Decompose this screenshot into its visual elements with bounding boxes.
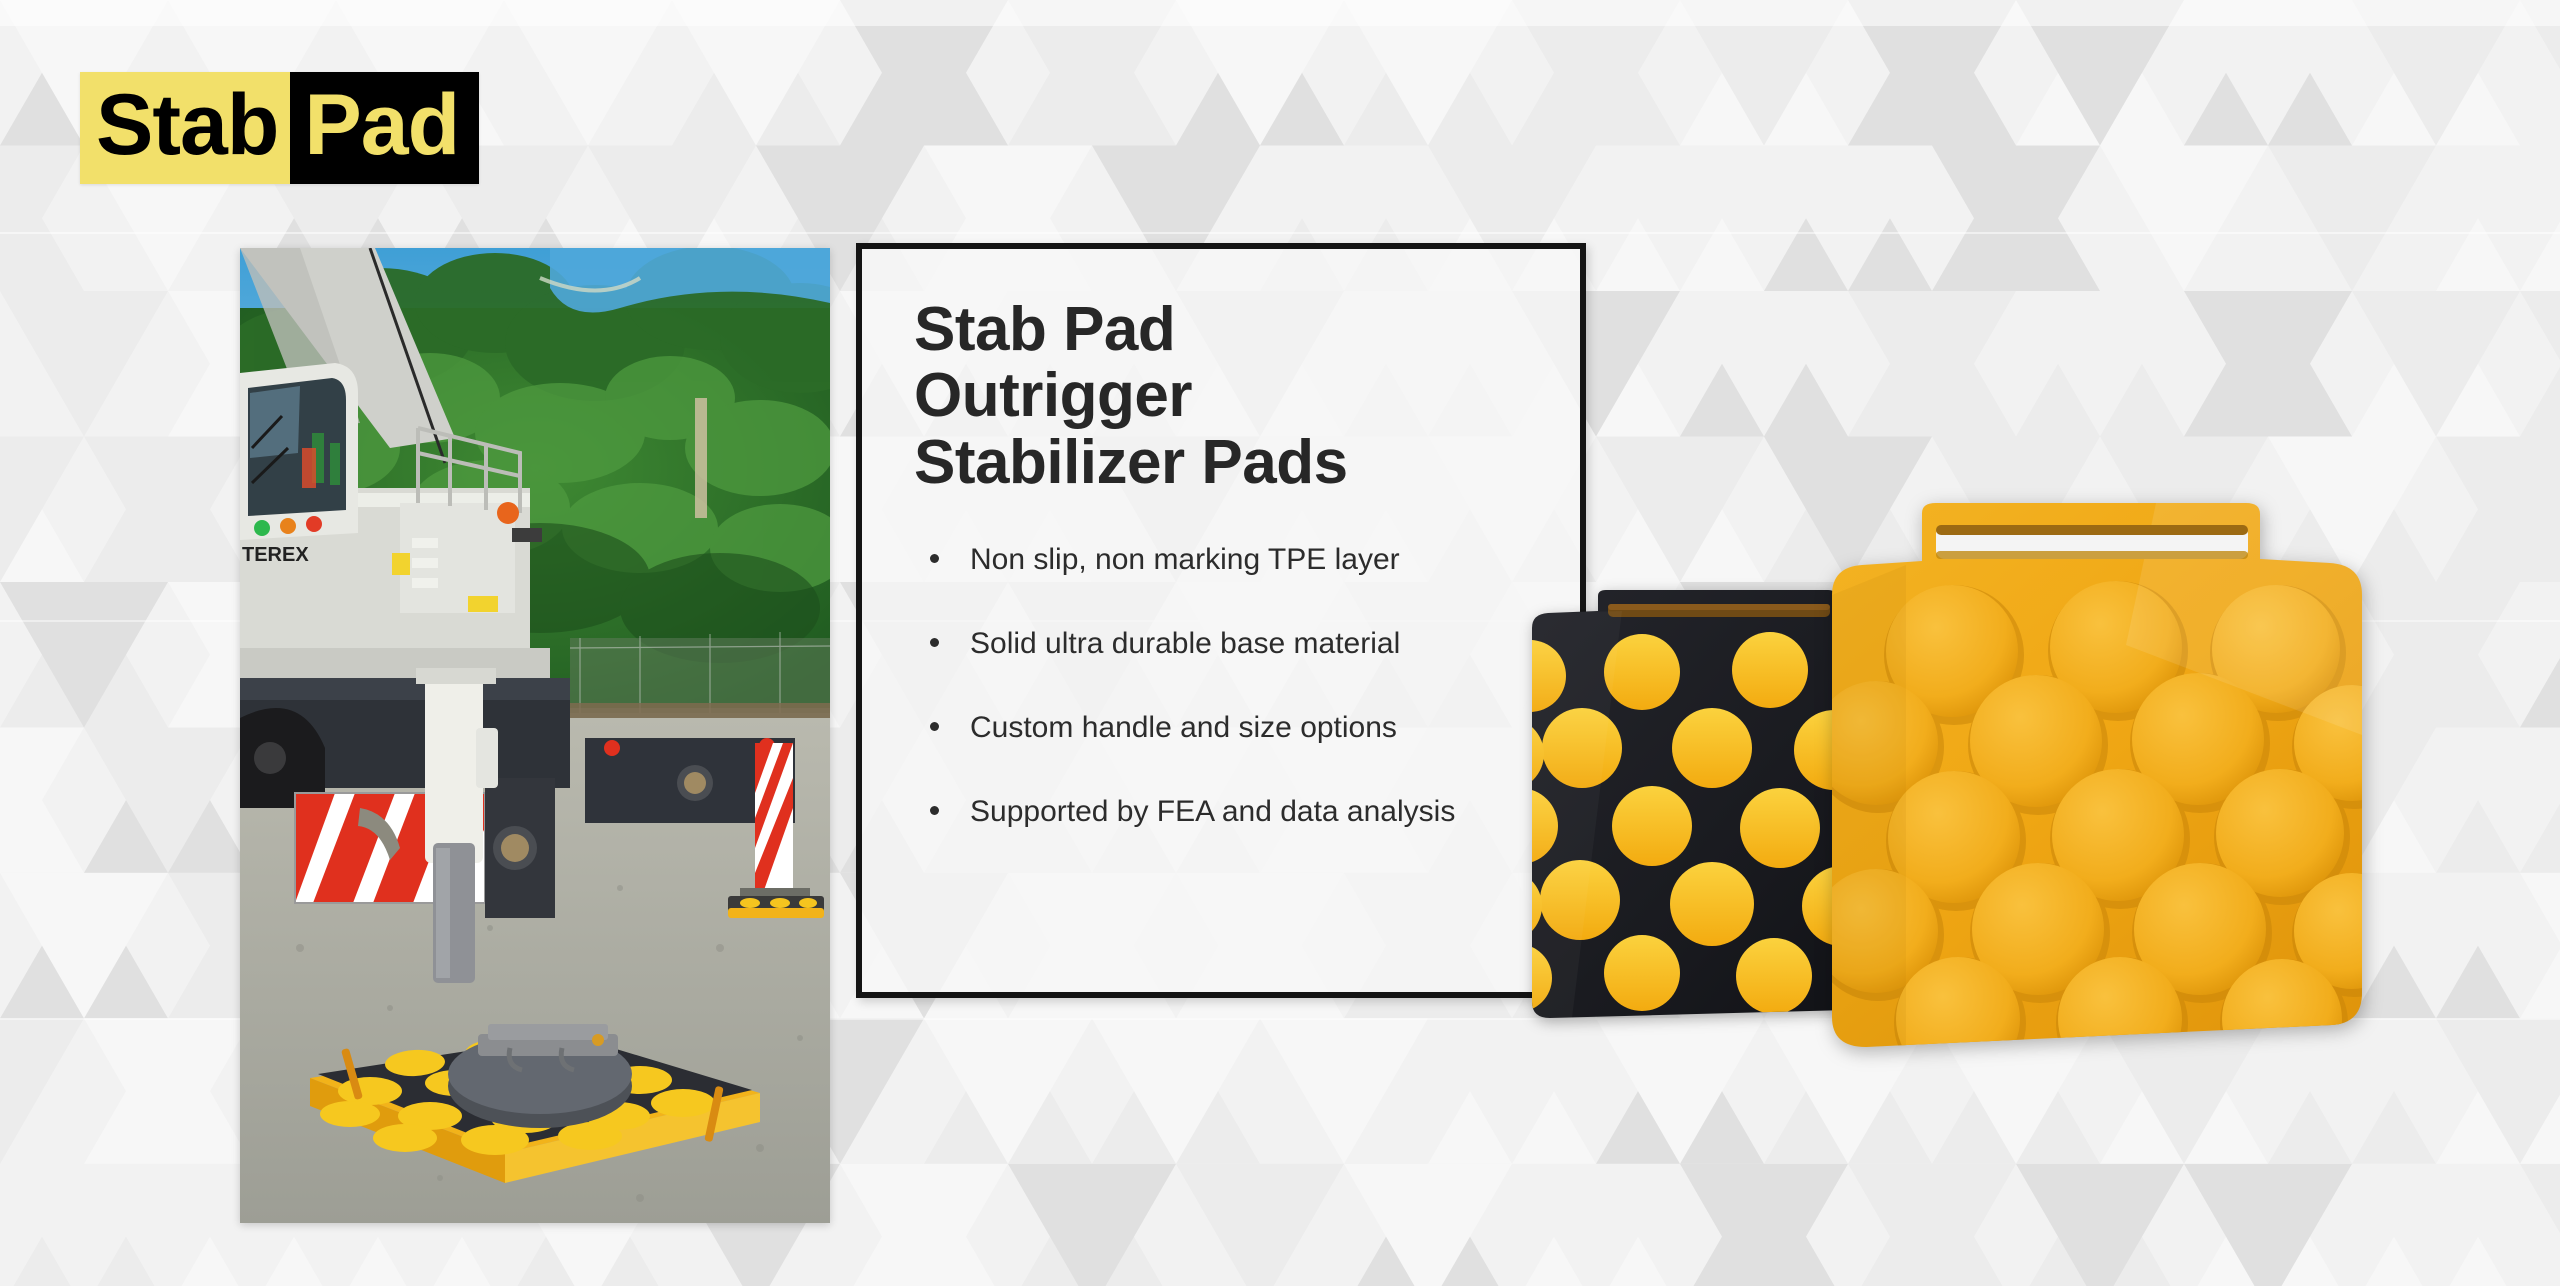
- headline-line-2: Outrigger: [914, 363, 1540, 429]
- yellow-outrigger-pad-image: [1826, 495, 2371, 1055]
- crane-outrigger-photo: TEREX: [240, 248, 830, 1223]
- list-item: Solid ultra durable base material: [914, 626, 1540, 662]
- feature-bullet-list: Non slip, non marking TPE layer Solid ul…: [914, 542, 1540, 830]
- bullet-dot-icon: [930, 638, 939, 647]
- logo-word-pad: Pad: [290, 72, 479, 184]
- headline-line-3: Stabilizer Pads: [914, 430, 1540, 496]
- bullet-dot-icon: [930, 806, 939, 815]
- info-panel: Stab Pad Outrigger Stabilizer Pads Non s…: [856, 243, 1586, 998]
- bullet-dot-icon: [930, 554, 939, 563]
- page-title: Stab Pad Outrigger Stabilizer Pads: [914, 297, 1540, 496]
- bullet-text: Supported by FEA and data analysis: [970, 795, 1455, 828]
- crane-photo-illustration: TEREX: [240, 248, 830, 1223]
- bullet-text: Solid ultra durable base material: [970, 627, 1400, 660]
- logo-word-stab: Stab: [80, 72, 290, 184]
- list-item: Custom handle and size options: [914, 710, 1540, 746]
- brand-logo: Stab Pad: [80, 72, 479, 184]
- headline-line-1: Stab Pad: [914, 297, 1540, 363]
- list-item: Non slip, non marking TPE layer: [914, 542, 1540, 578]
- list-item: Supported by FEA and data analysis: [914, 794, 1540, 830]
- bullet-text: Non slip, non marking TPE layer: [970, 543, 1400, 576]
- bullet-dot-icon: [930, 722, 939, 731]
- bullet-text: Custom handle and size options: [970, 711, 1397, 744]
- svg-text:TEREX: TEREX: [242, 544, 309, 566]
- yellow-pad-illustration: [1826, 495, 2371, 1055]
